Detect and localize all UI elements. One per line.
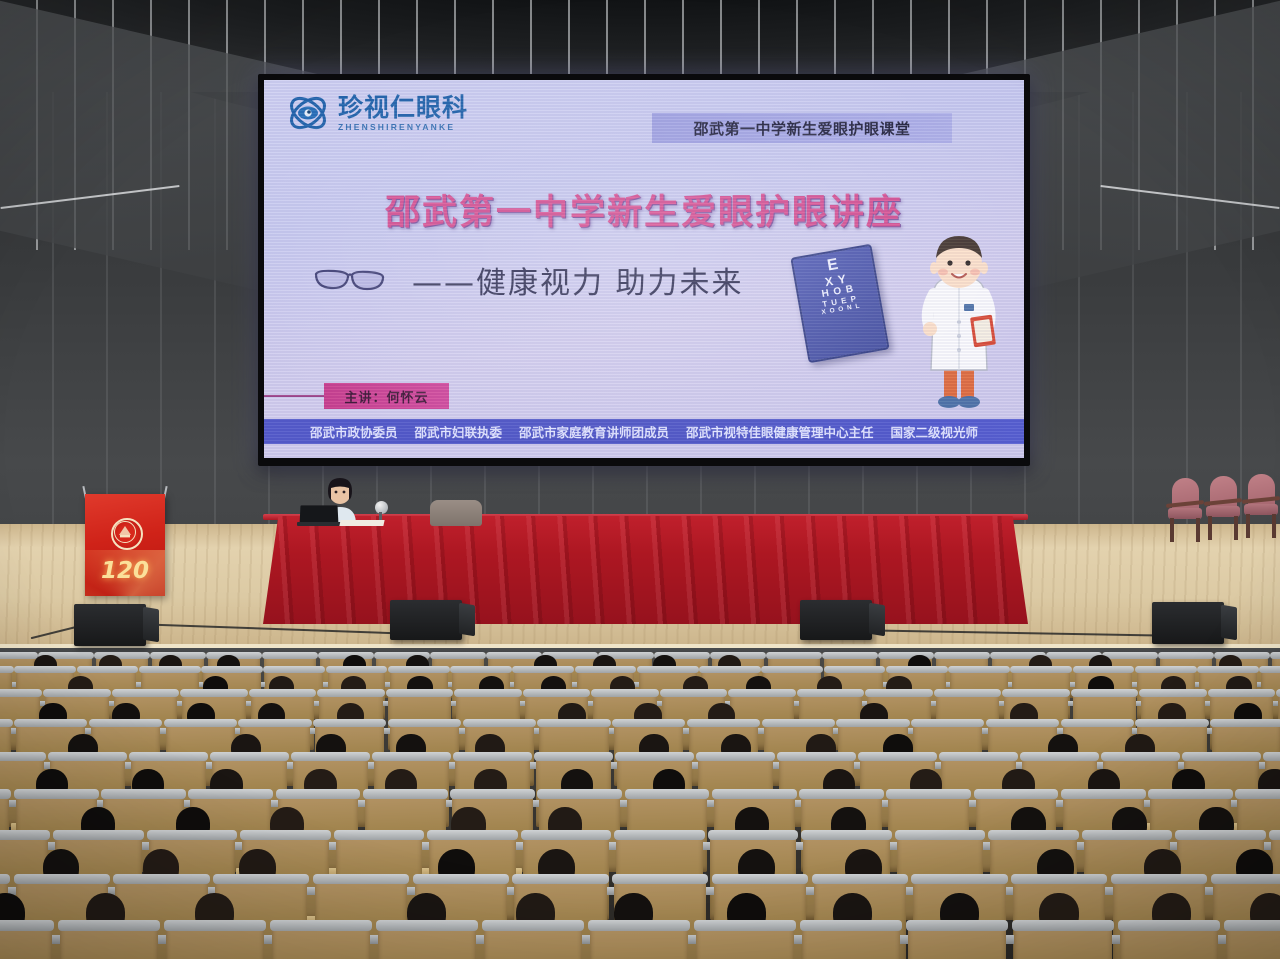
brand-name-en: ZHENSHIRENYANKE — [338, 123, 468, 132]
slide-subtitle-row: ——健康视力 助力未来 — [312, 258, 744, 302]
seat-top-rail — [388, 666, 450, 674]
seat-top-rail — [1061, 789, 1146, 799]
laptop-base — [297, 522, 342, 526]
seat-top-rail — [112, 689, 180, 697]
seat-top-rail — [89, 719, 162, 728]
seat-top-rail — [537, 719, 610, 728]
seat-top-rail — [376, 920, 478, 931]
seat-top-rail — [708, 830, 799, 840]
led-screen[interactable]: 珍视仁眼科 ZHENSHIRENYANKE 邵武第一中学新生爱眼护眼课堂 邵武第… — [264, 80, 1024, 458]
stage-monitor-speaker-icon — [1152, 602, 1224, 644]
speaker-name-text: 主讲：何怀云 — [344, 387, 428, 406]
seat-top-rail — [886, 666, 948, 674]
seat-top-rail — [0, 830, 50, 840]
side-chair-group — [1168, 470, 1280, 560]
seat-top-rail — [836, 719, 909, 728]
seat-top-rail — [728, 689, 796, 697]
speaker-name-chip: 主讲：何怀云 — [324, 383, 449, 409]
seat-top-rail — [696, 752, 775, 761]
seat-top-rail — [865, 689, 933, 697]
seat-top-rail — [797, 689, 865, 697]
seat-top-rail — [334, 830, 425, 840]
seat-top-rail — [363, 789, 448, 799]
brand-logo: 珍视仁眼科 ZHENSHIRENYANKE — [286, 92, 468, 134]
seat-top-rail — [454, 689, 522, 697]
seat-top-rail — [660, 689, 728, 697]
brand-logo-text: 珍视仁眼科 ZHENSHIRENYANKE — [338, 95, 468, 132]
speaker-chip-lead-line — [264, 395, 326, 397]
seat-top-rail — [800, 920, 902, 931]
seat-top-rail — [1263, 752, 1280, 761]
seat-top-rail — [238, 719, 311, 728]
seat-top-rail — [1197, 666, 1259, 674]
seat-top-rail — [0, 719, 13, 728]
seat-top-rail — [824, 666, 886, 674]
seat-top-rail — [537, 789, 622, 799]
seat-top-rail — [822, 652, 878, 659]
seat-top-rail — [911, 874, 1007, 885]
seat-top-rail — [0, 920, 54, 931]
seat-top-rail — [276, 789, 361, 799]
seat-top-rail — [210, 752, 289, 761]
anniversary-number: 120 — [85, 556, 165, 586]
audience-seating — [0, 652, 1280, 959]
credential-item: 邵武市妇联执委 — [414, 422, 502, 441]
seat-top-rail — [249, 689, 317, 697]
seat-top-rail — [201, 666, 263, 674]
seat-top-rail — [612, 719, 685, 728]
seat-top-rail — [164, 719, 237, 728]
seat-top-rail — [77, 666, 139, 674]
stage-chair — [430, 500, 482, 526]
credential-item: 国家二级视光师 — [891, 422, 979, 441]
seat-top-rail — [766, 652, 822, 659]
seat-top-rail — [113, 874, 209, 885]
seat-top-rail — [1259, 666, 1280, 674]
seat-top-rail — [1020, 752, 1099, 761]
seat-top-rail — [43, 689, 111, 697]
seat-top-rail — [939, 752, 1018, 761]
seat-top-rail — [0, 789, 11, 799]
seat-top-rail — [1073, 666, 1135, 674]
seat-top-rail — [291, 752, 370, 761]
seat-top-rail — [48, 752, 127, 761]
seat-top-rail — [911, 719, 984, 728]
seat-top-rail — [988, 830, 1079, 840]
seat-top-rail — [1118, 920, 1220, 931]
seat-top-rail — [1101, 752, 1180, 761]
seat-top-rail — [188, 789, 273, 799]
seat-top-rail — [895, 830, 986, 840]
seat-top-rail — [1224, 920, 1280, 931]
seat-top-rail — [0, 689, 42, 697]
seat-top-rail — [139, 666, 201, 674]
seat-top-rail — [180, 689, 248, 697]
seat-top-rail — [1011, 874, 1107, 885]
seat-top-rail — [317, 689, 385, 697]
auditorium-scene: 珍视仁眼科 ZHENSHIRENYANKE 邵武第一中学新生爱眼护眼课堂 邵武第… — [0, 0, 1280, 959]
seat-top-rail — [974, 789, 1059, 799]
seat-top-rail — [762, 719, 835, 728]
seat-top-rail — [523, 689, 591, 697]
slide-header-text: 邵武第一中学新生爱眼护眼课堂 — [693, 118, 910, 139]
seat-top-rail — [801, 830, 892, 840]
seat-top-rail — [534, 752, 613, 761]
seat-top-rail — [1158, 652, 1214, 659]
stage-monitor-speaker-icon — [390, 600, 462, 640]
seat-top-rail — [263, 666, 325, 674]
seat-top-rail — [575, 666, 637, 674]
seat-top-rail — [450, 666, 512, 674]
seat-top-rail — [14, 719, 87, 728]
seat-top-rail — [761, 666, 823, 674]
seat-top-rail — [1102, 652, 1158, 659]
eye-logo-icon — [286, 92, 330, 134]
eyeglasses-icon — [312, 263, 408, 297]
seat-top-rail — [0, 752, 46, 761]
seat-top-rail — [712, 874, 808, 885]
seat-top-rail — [777, 752, 856, 761]
credential-item: 邵武市家庭教育讲师团成员 — [519, 422, 669, 441]
seat-top-rail — [588, 920, 690, 931]
credential-item: 邵武市视特佳眼健康管理中心主任 — [686, 422, 874, 441]
seat-top-rail — [0, 652, 38, 659]
seat-top-rail — [129, 752, 208, 761]
wooden-chair-icon — [1168, 478, 1202, 544]
slide-title: 邵武第一中学新生爱眼护眼讲座 — [264, 184, 1024, 235]
seat-top-rail — [1111, 874, 1207, 885]
seat-top-rail — [388, 719, 461, 728]
credential-item: 邵武市政协委员 — [310, 422, 398, 441]
seat-top-rail — [1210, 719, 1280, 728]
seat-top-rail — [625, 789, 710, 799]
seat-top-rail — [934, 652, 990, 659]
seat-top-rail — [1002, 689, 1070, 697]
seat-top-rail — [1211, 874, 1280, 885]
seat-top-rail — [1135, 719, 1208, 728]
papers-on-table — [339, 520, 384, 526]
seat-top-rail — [0, 874, 10, 885]
seat-top-rail — [687, 719, 760, 728]
seat-top-rail — [453, 752, 532, 761]
slide-subtitle-text: ——健康视力 助力未来 — [412, 258, 744, 302]
seat-top-rail — [512, 874, 608, 885]
seat-top-rail — [1175, 830, 1266, 840]
seat-top-rail — [694, 920, 796, 931]
seat-top-rail — [512, 666, 574, 674]
seat-top-rail — [482, 920, 584, 931]
credentials-bar: 邵武市政协委员 邵武市妇联执委 邵武市家庭教育讲师团成员 邵武市视特佳眼健康管理… — [264, 419, 1024, 444]
seat-top-rail — [0, 666, 14, 674]
seat-top-rail — [934, 689, 1002, 697]
wooden-chair-icon — [1244, 474, 1278, 540]
eye-chart-icon: E X Y H O B T U E P X O O N L — [790, 244, 889, 364]
seat-top-rail — [147, 830, 238, 840]
seat-top-rail — [986, 719, 1059, 728]
stage-monitor-speaker-icon — [800, 600, 872, 640]
seat-top-rail — [712, 789, 797, 799]
seat-top-rail — [53, 830, 144, 840]
seat-top-rail — [14, 789, 99, 799]
seat-top-rail — [262, 652, 318, 659]
seat-top-rail — [1269, 830, 1280, 840]
seat-top-rail — [1010, 666, 1072, 674]
seat-top-rail — [164, 920, 266, 931]
seat-top-rail — [699, 666, 761, 674]
seat-top-rail — [313, 719, 386, 728]
seat-top-rail — [463, 719, 536, 728]
school-emblem-icon — [111, 518, 143, 550]
seat-top-rail — [450, 789, 535, 799]
stage-monitor-speaker-icon — [74, 604, 146, 646]
seat-top-rail — [1208, 689, 1276, 697]
seat-top-rail — [240, 830, 331, 840]
cartoon-doctor-icon — [904, 230, 1014, 420]
seat-top-rail — [386, 689, 454, 697]
seat-top-rail — [427, 830, 518, 840]
seat-top-rail — [906, 920, 1008, 931]
seat-top-rail — [637, 666, 699, 674]
seat-top-rail — [313, 874, 409, 885]
seat-top-rail — [858, 752, 937, 761]
seat-top-rail — [886, 789, 971, 799]
seat-top-rail — [1148, 789, 1233, 799]
seat-top-rail — [14, 874, 110, 885]
table-drape-folds — [263, 516, 1028, 624]
seat-top-rail — [213, 874, 309, 885]
seat-top-rail — [1082, 830, 1173, 840]
seat-top-rail — [799, 789, 884, 799]
slide-header-band: 邵武第一中学新生爱眼护眼课堂 — [652, 113, 952, 143]
seat-top-rail — [521, 830, 612, 840]
seat-top-rail — [430, 652, 486, 659]
seat-top-rail — [326, 666, 388, 674]
seat-top-rail — [612, 874, 708, 885]
seat-top-rail — [591, 689, 659, 697]
seat-top-rail — [413, 874, 509, 885]
seat-top-rail — [372, 752, 451, 761]
seat-top-rail — [1061, 719, 1134, 728]
brand-name-cn: 珍视仁眼科 — [338, 95, 468, 120]
seat-top-rail — [1182, 752, 1261, 761]
seat-top-rail — [1270, 652, 1280, 659]
seat-top-rail — [58, 920, 160, 931]
seat-top-rail — [615, 752, 694, 761]
seat-top-rail — [614, 830, 705, 840]
seat-top-rail — [14, 666, 76, 674]
seat-top-rail — [1071, 689, 1139, 697]
seat-top-rail — [1139, 689, 1207, 697]
seat-top-rail — [948, 666, 1010, 674]
seat-top-rail — [1135, 666, 1197, 674]
seat-top-rail — [270, 920, 372, 931]
wooden-chair-icon — [1206, 476, 1240, 542]
seat-top-rail — [812, 874, 908, 885]
seat-top-rail — [486, 652, 542, 659]
seat-top-rail — [1012, 920, 1114, 931]
seat-top-rail — [1235, 789, 1280, 799]
seat-top-rail — [101, 789, 186, 799]
